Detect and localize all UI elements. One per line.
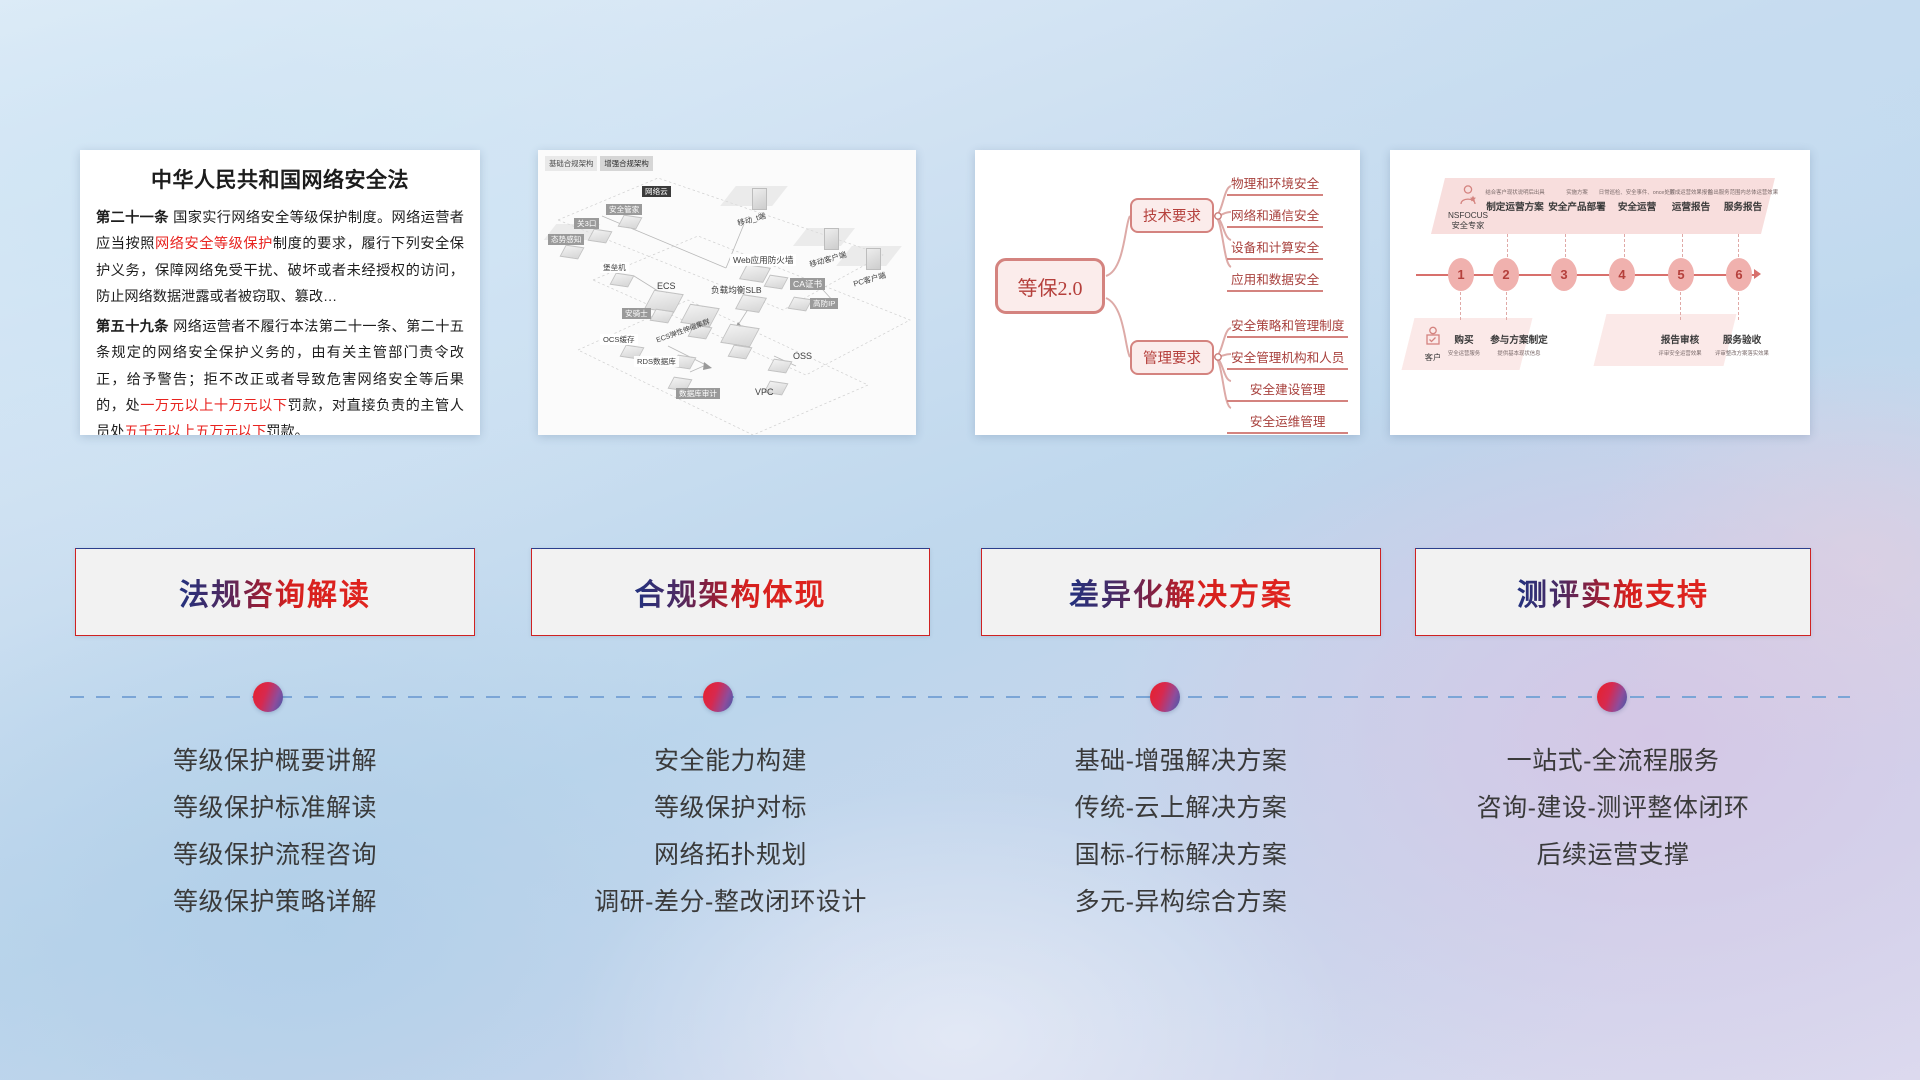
mindmap-collapse-toggle-tech [1215,213,1221,219]
list-item: 安全能力构建 [531,738,930,785]
nsfocus-tick [1738,292,1739,320]
nsfocus-bottom-step-main: 服务验收 [1706,332,1778,346]
law-article-number-59: 第五十九条 [96,319,169,335]
law-card-body: 中华人民共和国网络安全法 第二十一条 国家实行网络安全等级保护制度。网络运营者应… [80,150,480,435]
list-item: 等级保护对标 [531,785,930,832]
detail-list-compliance-architecture: 安全能力构建 等级保护对标 网络拓扑规划 调研-差分-整改闭环设计 [531,738,930,926]
mindmap-root-node[interactable]: 等保2.0 [995,258,1105,314]
nsfocus-step-dot-1[interactable]: 1 [1448,258,1474,291]
arch-label-ca-cert: CA证书 [790,278,825,290]
arch-label-waf: Web应用防火墙 [730,254,796,266]
nsfocus-bottom-step-sub: 提供基本现状信息 [1484,349,1554,357]
nsfocus-tick [1506,292,1507,320]
nsfocus-bottom-step-main: 参与方案制定 [1484,332,1554,346]
mindmap-collapse-toggle-mgmt [1215,354,1221,360]
card-nsfocus-service-timeline[interactable]: NSFOCUS 安全专家 结合客户现状说明后出具 制定运营方案 实施方案 安全产… [1390,150,1810,435]
arch-label-security-butler: 安全管家 [606,204,642,215]
law-article-number-21: 第二十一条 [96,210,169,226]
list-item: 等级保护概要讲解 [75,738,475,785]
slide-stage: 中华人民共和国网络安全法 第二十一条 国家实行网络安全等级保护制度。网络运营者应… [0,0,1920,1080]
arch-label-slb: 负载均衡SLB [708,284,765,296]
nsfocus-tick [1460,292,1461,320]
law-paragraph-21: 第二十一条 国家实行网络安全等级保护制度。网络运营者应当按照网络安全等级保护制度… [96,205,464,310]
nsfocus-step-dot-2[interactable]: 2 [1493,258,1519,291]
arch-label-oss: OSS [790,350,815,363]
detail-list-evaluation-support: 一站式-全流程服务 咨询-建设-测评整体闭环 后续运营支撑 [1415,738,1811,879]
law-title: 中华人民共和国网络安全法 [96,164,464,194]
mindmap-leaf[interactable]: 设备和计算安全 [1227,236,1323,260]
heading-box-differentiated-solution[interactable]: 差异化解决方案 [981,548,1381,636]
nsfocus-bottom-step-4: 服务验收 评审整改方案落实效果 [1706,332,1778,357]
architecture-diagram: 基础合规架构 增强合规架构 [538,150,916,435]
timeline-dot-1[interactable] [253,682,283,712]
mindmap-leaf[interactable]: 网络和通信安全 [1227,204,1323,228]
mindmap-branch-management[interactable]: 管理要求 [1130,340,1214,375]
nsfocus-step-dot-4[interactable]: 4 [1609,258,1635,291]
nsfocus-tick [1680,292,1681,320]
mindmap-leaves-technical: 物理和环境安全 网络和通信安全 设备和计算安全 应用和数据安全 [1227,172,1323,300]
mindmap-branch-technical[interactable]: 技术要求 [1130,198,1214,233]
detail-list-differentiated-solution: 基础-增强解决方案 传统-云上解决方案 国标-行标解决方案 多元-异构综合方案 [981,738,1381,926]
arch-label-ecs: ECS [654,280,679,293]
arch-server [866,248,881,270]
arch-label-bastion-host: 堡垒机 [600,262,629,273]
nsfocus-top-step-sub: 给出服务范围内总体运营效果 [1708,188,1778,196]
mindmap-leaves-management: 安全策略和管理制度 安全管理机构和人员 安全建设管理 安全运维管理 [1227,314,1348,435]
timeline-dot-3[interactable] [1150,682,1180,712]
timeline-dashed-line [70,696,1850,698]
nsfocus-top-step-main: 服务报告 [1708,199,1778,213]
list-item: 网络拓扑规划 [531,832,930,879]
nsfocus-top-step-5: 给出服务范围内总体运营效果 服务报告 [1708,188,1778,213]
list-item: 一站式-全流程服务 [1415,738,1811,785]
list-item: 等级保护标准解读 [75,785,475,832]
nsfocus-step-dot-5[interactable]: 5 [1668,258,1694,291]
nsfocus-timeline: NSFOCUS 安全专家 结合客户现状说明后出具 制定运营方案 实施方案 安全产… [1390,150,1810,435]
nsfocus-axis-arrow [1754,269,1761,279]
list-item: 调研-差分-整改闭环设计 [531,879,930,926]
arch-label-ocs-cache: OCS缓存 [600,334,638,345]
law-seg: 罚款。 [266,424,309,435]
timeline-dot-2[interactable] [703,682,733,712]
mindmap-leaf[interactable]: 安全管理机构和人员 [1227,346,1348,370]
arch-label-rds-db: RDS数据库 [634,356,679,367]
arch-server [752,188,767,210]
mindmap-leaf[interactable]: 应用和数据安全 [1227,268,1323,292]
arch-label-db-audit: 数据库审计 [676,388,720,399]
card-compliance-architecture[interactable]: 基础合规架构 增强合规架构 [538,150,916,435]
heading-label: 合规架构体现 [635,570,827,614]
heading-box-regulation-consulting[interactable]: 法规咨询解读 [75,548,475,636]
list-item: 基础-增强解决方案 [981,738,1381,785]
detail-list-regulation-consulting: 等级保护概要讲解 等级保护标准解读 等级保护流程咨询 等级保护策略详解 [75,738,475,926]
arch-server [824,228,839,250]
list-item: 等级保护策略详解 [75,879,475,926]
arch-label-situation-awareness: 态势感知 [548,234,584,245]
nsfocus-step-dot-6[interactable]: 6 [1726,258,1752,291]
mindmap-leaf[interactable]: 物理和环境安全 [1227,172,1323,196]
list-item: 国标-行标解决方案 [981,832,1381,879]
arch-label-cloud: 网络云 [642,186,671,197]
heading-box-compliance-architecture[interactable]: 合规架构体现 [531,548,930,636]
timeline-dot-4[interactable] [1597,682,1627,712]
nsfocus-bottom-step-sub: 评审安全运营效果 [1646,349,1714,357]
arch-tab-enhanced[interactable]: 增强合规架构 [600,156,652,171]
heading-label: 法规咨询解读 [179,570,371,614]
arch-tab-basic[interactable]: 基础合规架构 [545,156,597,171]
mindmap-leaf[interactable]: 安全策略和管理制度 [1227,314,1348,338]
list-item: 传统-云上解决方案 [981,785,1381,832]
mindmap: 等保2.0 技术要求 物理和环境安全 网络和通信安全 设备和计算安全 应用和数据… [975,150,1360,435]
law-seg-highlight: 网络安全等级保护 [155,236,273,252]
heading-label: 差异化解决方案 [1069,570,1293,614]
law-seg-highlight: 五千元以上五万元以下 [124,424,266,435]
arch-label-anti-ddos-ip: 高防IP [810,298,838,309]
mindmap-leaf[interactable]: 安全运维管理 [1227,410,1348,434]
nsfocus-bottom-step-2: 参与方案制定 提供基本现状信息 [1484,332,1554,357]
list-item: 等级保护流程咨询 [75,832,475,879]
card-dengbao-mindmap[interactable]: 等保2.0 技术要求 物理和环境安全 网络和通信安全 设备和计算安全 应用和数据… [975,150,1360,435]
nsfocus-expert-label-line2: 安全专家 [1438,221,1498,231]
list-item: 多元-异构综合方案 [981,879,1381,926]
arch-label-guan3: 关3口 [574,218,599,229]
list-item: 咨询-建设-测评整体闭环 [1415,785,1811,832]
nsfocus-bottom-step-3: 报告审核 评审安全运营效果 [1646,332,1714,357]
arch-label-anqishi: 安骑士 [622,308,651,319]
nsfocus-bottom-step-sub: 评审整改方案落实效果 [1706,349,1778,357]
law-paragraph-59: 第五十九条 网络运营者不履行本法第二十一条、第二十五条规定的网络安全保护义务的，… [96,314,464,435]
cards-row: 中华人民共和国网络安全法 第二十一条 国家实行网络安全等级保护制度。网络运营者应… [0,150,1920,450]
card-cybersecurity-law[interactable]: 中华人民共和国网络安全法 第二十一条 国家实行网络安全等级保护制度。网络运营者应… [80,150,480,435]
architecture-tabs: 基础合规架构 增强合规架构 [545,156,653,171]
nsfocus-step-dot-3[interactable]: 3 [1551,258,1577,291]
list-item: 后续运营支撑 [1415,832,1811,879]
heading-box-evaluation-support[interactable]: 测评实施支持 [1415,548,1811,636]
law-seg-highlight: 一万元以上十万元以下 [140,398,287,414]
heading-row: 法规咨询解读 合规架构体现 差异化解决方案 测评实施支持 [0,548,1920,636]
mindmap-leaf[interactable]: 安全建设管理 [1227,378,1348,402]
arch-label-vpc: VPC [752,386,777,399]
nsfocus-bottom-step-main: 报告审核 [1646,332,1714,346]
architecture-canvas: 网络云 安全管家 关3口 态势感知 移动_t端 移动客户端 PC客户端 堡垒机 [538,150,916,435]
heading-label: 测评实施支持 [1517,570,1709,614]
